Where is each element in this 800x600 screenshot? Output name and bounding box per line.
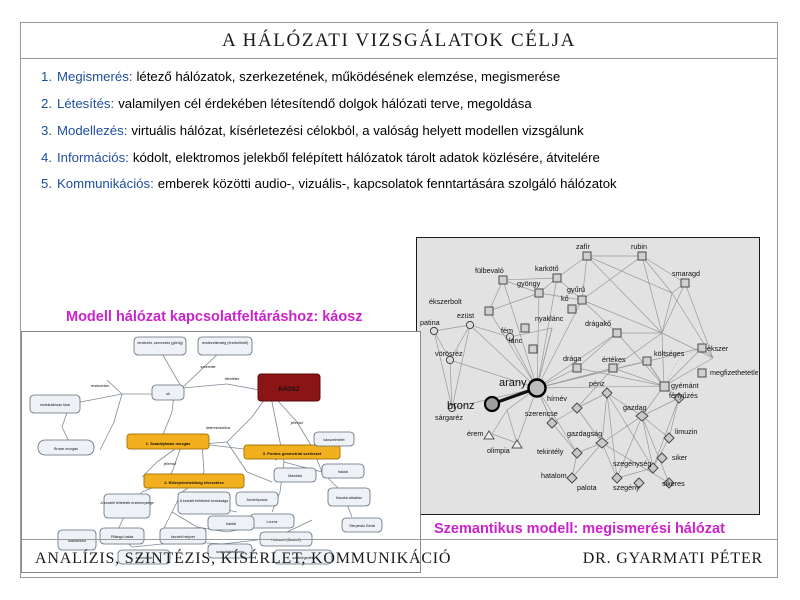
list-item-keyword: Információs	[57, 150, 125, 166]
svg-text:jellemző: jellemző	[290, 421, 304, 425]
svg-text:fraktál: fraktál	[338, 470, 348, 474]
svg-text:siker: siker	[672, 453, 688, 462]
svg-text:tekintély: tekintély	[537, 447, 564, 456]
svg-text:sárgaréz: sárgaréz	[435, 413, 463, 422]
chaos-center-node-label: KÁOSZ	[279, 386, 300, 393]
svg-text:szegény: szegény	[613, 483, 640, 492]
svg-text:gazdagság: gazdagság	[567, 429, 602, 438]
list-item-text: létező hálózatok, szerkezetének, működés…	[133, 69, 561, 85]
svg-text:Brown mozgás: Brown mozgás	[54, 447, 78, 451]
svg-text:Lorenz: Lorenz	[267, 520, 278, 524]
title-band: A hálózati vizsgálatok célja	[21, 23, 777, 59]
svg-text:gazdag: gazdag	[623, 403, 647, 412]
semantic-panel-caption: Szemantikus modell: megismerési hálózat	[434, 521, 725, 537]
svg-text:fülbevaló: fülbevaló	[475, 266, 504, 275]
svg-text:3. Pontos geometriai szerkezet: 3. Pontos geometriai szerkezet	[263, 451, 322, 456]
list-item-keyword: Modellezés	[57, 123, 124, 139]
svg-text:gyémánt: gyémánt	[671, 381, 699, 390]
svg-text:jellemző: jellemző	[163, 462, 177, 466]
svg-text:rendszerben: rendszerben	[91, 384, 110, 388]
svg-text:költséges: költséges	[654, 349, 685, 358]
footer-left-text: Analízis, szintézis, kísérlet, kommuniká…	[35, 550, 451, 568]
list-item-number: 1.	[31, 69, 57, 85]
svg-text:Mandala: Mandala	[288, 474, 302, 478]
svg-text:fém: fém	[501, 326, 513, 335]
svg-text:molekulárisan kicsi: molekulárisan kicsi	[40, 403, 70, 407]
list-item-keyword: Megismerés	[57, 69, 129, 85]
footer-band: Analízis, szintézis, kísérlet, kommuniká…	[21, 539, 777, 577]
svg-text:drága: drága	[563, 354, 581, 363]
svg-text:rubin: rubin	[631, 242, 647, 251]
svg-text:karkötő: karkötő	[535, 264, 559, 273]
svg-text:pénz: pénz	[589, 379, 605, 388]
svg-text:limuzin: limuzin	[675, 427, 697, 436]
svg-text:ékszerbolt: ékszerbolt	[429, 297, 462, 306]
svg-text:Sierpinski Gerát: Sierpinski Gerát	[349, 524, 375, 528]
list-item-number: 3.	[31, 123, 57, 139]
list-item: 3. Modellezés : virtuális hálózat, kísér…	[31, 123, 767, 139]
svg-text:zafír: zafír	[576, 242, 591, 251]
svg-text:A kezdeti feltételek fontosság: A kezdeti feltételek fontossága	[180, 499, 229, 503]
svg-text:Archetípusok: Archetípusok	[247, 498, 268, 502]
svg-text:megfizethetetlen: megfizethetetlen	[710, 368, 758, 377]
list-item: 4. Információs : kódolt, elektromos jele…	[31, 150, 767, 166]
chaos-nodes	[30, 337, 382, 564]
list-item-text: valamilyen cél érdekében létesítendő dol…	[114, 96, 531, 112]
list-item-keyword: Kommunikációs	[57, 176, 150, 192]
list-item-text: kódolt, elektromos jelekből felépített h…	[129, 150, 600, 166]
list-item: 1. Megismerés : létező hálózatok, szerke…	[31, 69, 767, 85]
list-item-text: virtuális hálózat, kísérletezési célokbó…	[127, 123, 583, 139]
list-item-number: 4.	[31, 150, 57, 166]
semantic-network-svg: patina ezüst vörösréz sárgaréz fém arany…	[417, 238, 758, 513]
list-item-keyword: Létesítés	[57, 96, 111, 112]
svg-text:káoszelmélet: káoszelmélet	[324, 438, 345, 442]
svg-text:rendezetlenség (érzékelhető): rendezetlenség (érzékelhető)	[202, 341, 249, 345]
svg-text:nyaklánc: nyaklánc	[535, 314, 564, 323]
svg-text:1. Szabálytalan mozgás: 1. Szabálytalan mozgás	[146, 441, 191, 446]
svg-text:rendezés, szervezés (görög): rendezés, szervezés (görög)	[137, 341, 183, 345]
svg-text:szerencse: szerencse	[525, 409, 558, 418]
svg-text:arany: arany	[499, 377, 527, 389]
svg-text:patina: patina	[420, 318, 440, 327]
svg-text:palota: palota	[577, 483, 597, 492]
svg-text:2. Előrejelezhetőség elvesztés: 2. Előrejelezhetőség elvesztése	[164, 480, 224, 485]
svg-text:fraktál: fraktál	[226, 522, 236, 526]
svg-text:smaragd: smaragd	[672, 269, 700, 278]
list-item: 2. Létesítés : valamilyen cél érdekében …	[31, 96, 767, 112]
objectives-list: 1. Megismerés : létező hálózatok, szerke…	[21, 59, 777, 203]
footer-right-text: Dr. Gyarmati Péter	[583, 550, 763, 568]
svg-text:olimpia: olimpia	[487, 446, 510, 455]
svg-text:szegénység: szegénység	[613, 459, 651, 468]
list-item-text: emberek közötti audio-, vizuális-, kapcs…	[154, 176, 617, 192]
svg-text:vörösréz: vörösréz	[435, 349, 463, 358]
svg-text:fényűzés: fényűzés	[669, 391, 698, 400]
svg-text:szóeredet: szóeredet	[201, 365, 216, 369]
svg-text:ok: ok	[166, 392, 170, 396]
svg-text:ékszer: ékszer	[707, 344, 729, 353]
svg-text:hatalom: hatalom	[541, 471, 567, 480]
svg-text:lánc: lánc	[509, 336, 523, 345]
list-item-number: 5.	[31, 176, 57, 192]
list-item-number: 2.	[31, 96, 57, 112]
svg-text:kő: kő	[561, 294, 569, 303]
svg-text:drágakő: drágakő	[585, 319, 611, 328]
chaos-panel-caption: Modell hálózat kapcsolatfeltáráshoz: káo…	[66, 309, 363, 325]
svg-text:gyűrű: gyűrű	[567, 285, 585, 294]
svg-text:sikeres: sikeres	[662, 479, 685, 488]
page-title: A hálózati vizsgálatok célja	[222, 30, 576, 52]
svg-text:érem: érem	[467, 429, 483, 438]
svg-text:ezüst: ezüst	[457, 311, 474, 320]
svg-text:A kezdeti feltételek érzékenys: A kezdeti feltételek érzékenysége	[100, 501, 153, 505]
svg-text:Kacska attraktor: Kacska attraktor	[336, 496, 363, 500]
semantic-network-panel: patina ezüst vörösréz sárgaréz fém arany…	[416, 237, 760, 515]
semantic-circle-nodes	[430, 321, 545, 411]
body-region: 1. Megismerés : létező hálózatok, szerke…	[21, 59, 777, 541]
chaos-map-svg: rendezés, szervezés (görög) rendezetlens…	[22, 332, 420, 572]
slide-frame: A hálózati vizsgálatok célja 1. Megismer…	[20, 22, 778, 578]
chaos-map-panel: rendezés, szervezés (görög) rendezetlens…	[21, 331, 421, 573]
svg-text:értékes: értékes	[602, 355, 626, 364]
svg-text:hírnév: hírnév	[547, 394, 567, 403]
svg-text:determinisztikus: determinisztikus	[206, 426, 231, 430]
svg-text:bronz: bronz	[447, 400, 475, 412]
list-item: 5. Kommunikációs : emberek közötti audio…	[31, 176, 767, 192]
svg-text:ellentétes: ellentétes	[225, 377, 240, 381]
svg-text:gyöngy: gyöngy	[517, 279, 541, 288]
